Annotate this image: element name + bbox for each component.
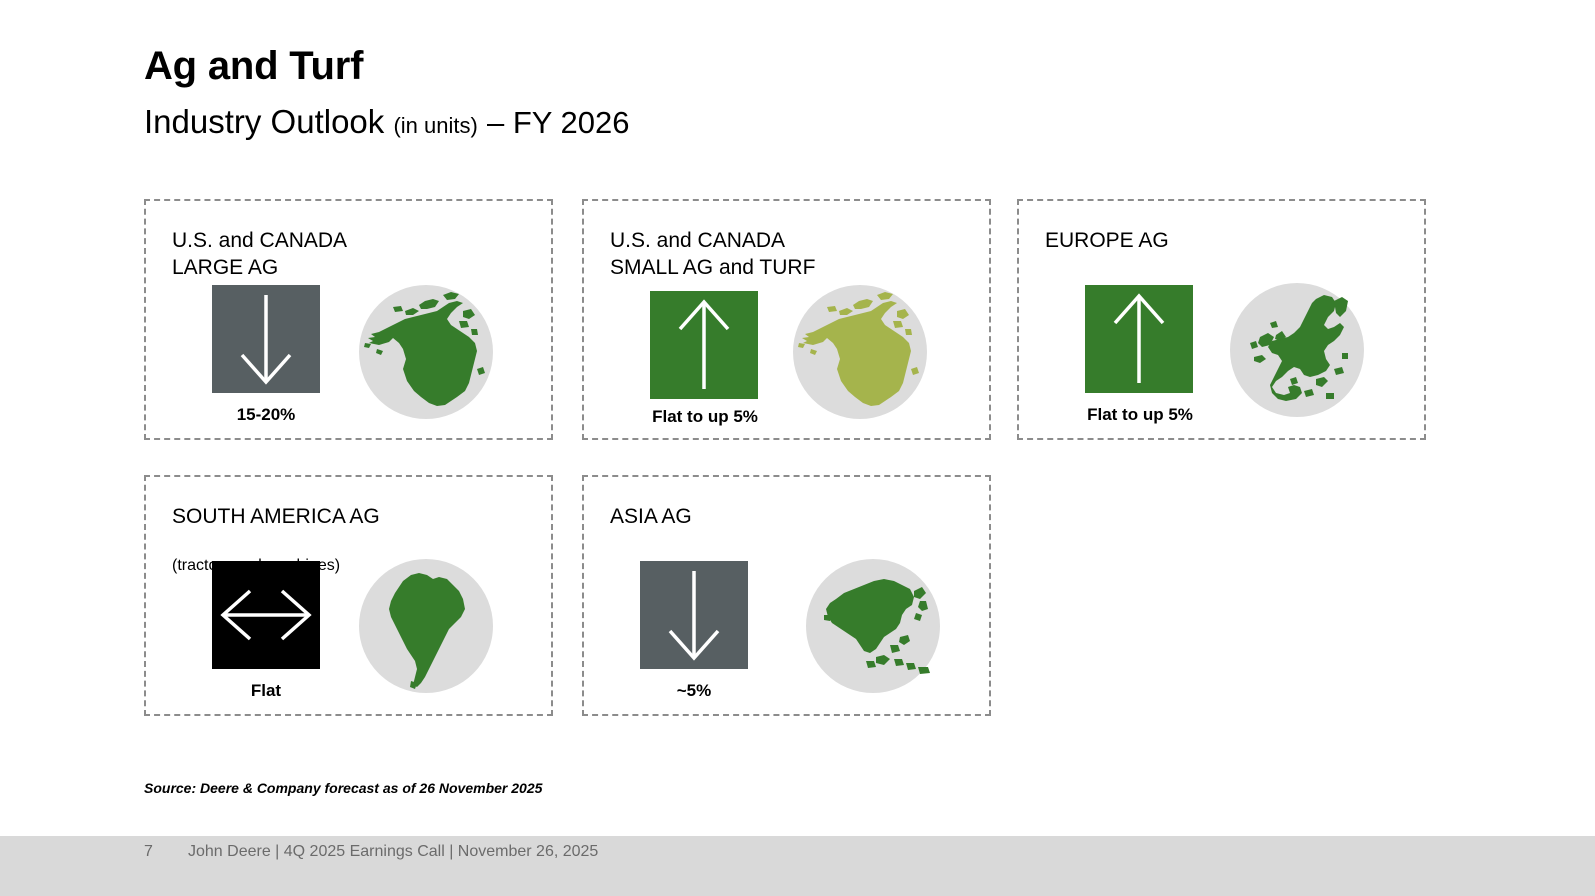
arrow-indicator-box <box>1085 285 1193 393</box>
arrow-down-icon <box>664 569 724 661</box>
map-north-america <box>359 285 493 419</box>
card-title: EUROPE AG <box>1045 227 1169 254</box>
map-asia <box>806 559 940 693</box>
north-america-map <box>359 285 493 419</box>
card-value: Flat to up 5% <box>1055 405 1225 425</box>
card-value: ~5% <box>640 681 748 701</box>
map-north-america <box>793 285 927 419</box>
footer-text: John Deere | 4Q 2025 Earnings Call | Nov… <box>188 843 598 861</box>
arrow-indicator-box <box>650 291 758 399</box>
card-title: ASIA AG <box>610 503 692 530</box>
source-note: Source: Deere & Company forecast as of 2… <box>144 780 542 796</box>
footer-page-number: 7 <box>144 843 153 861</box>
outlook-card-us-canada-small-ag-turf: U.S. and CANADA SMALL AG and TURF Flat t… <box>582 199 991 440</box>
arrow-indicator-box <box>212 561 320 669</box>
card-value: 15-20% <box>212 405 320 425</box>
arrow-up-icon <box>674 299 734 391</box>
north-america-map <box>793 285 927 419</box>
map-europe <box>1230 283 1364 417</box>
arrow-indicator-box <box>212 285 320 393</box>
arrow-up-icon <box>1109 293 1169 385</box>
card-title: U.S. and CANADA LARGE AG <box>172 227 347 281</box>
outlook-card-grid: U.S. and CANADA LARGE AG 15-20% <box>0 0 1595 896</box>
outlook-card-south-america-ag: SOUTH AMERICA AG (tractors and combines)… <box>144 475 553 716</box>
card-title: SOUTH AMERICA AG <box>172 503 380 530</box>
map-south-america <box>359 559 493 693</box>
card-title: U.S. and CANADA SMALL AG and TURF <box>610 227 815 281</box>
south-america-map <box>359 559 493 693</box>
card-value: Flat <box>212 681 320 701</box>
outlook-card-us-canada-large-ag: U.S. and CANADA LARGE AG 15-20% <box>144 199 553 440</box>
outlook-card-europe-ag: EUROPE AG Flat to up 5% <box>1017 199 1426 440</box>
arrow-down-icon <box>236 293 296 385</box>
arrow-left-right-icon <box>220 585 312 645</box>
arrow-indicator-box <box>640 561 748 669</box>
asia-map <box>806 559 940 693</box>
outlook-card-asia-ag: ASIA AG ~5% <box>582 475 991 716</box>
card-value: Flat to up 5% <box>620 407 790 427</box>
europe-map <box>1230 283 1364 417</box>
